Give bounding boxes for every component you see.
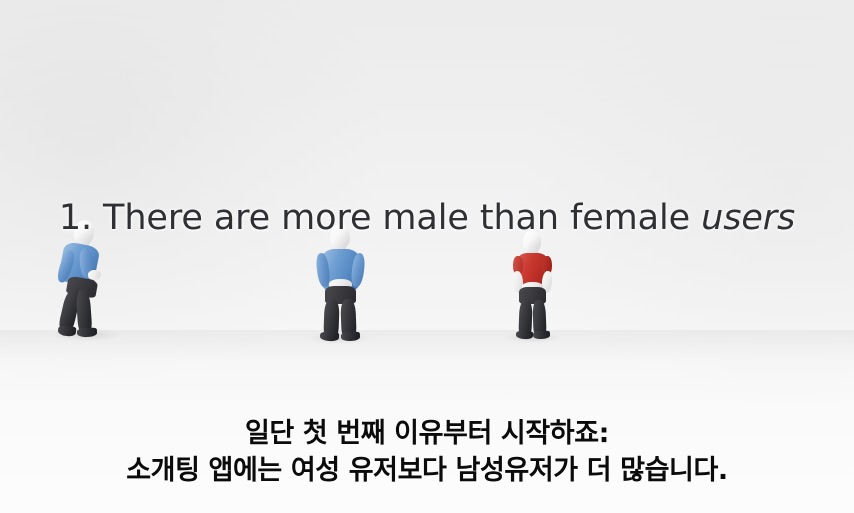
headline-number: 1. — [59, 198, 92, 238]
figure-arm-back — [55, 249, 77, 284]
figure-shoe-right — [341, 332, 360, 342]
figure-arm-right — [350, 252, 366, 287]
figure-leg-right — [340, 299, 356, 339]
figure-leg-left — [518, 300, 532, 338]
figure-hand-front — [88, 270, 102, 281]
figure-hip — [66, 276, 99, 299]
figure-torso — [517, 253, 548, 291]
figure-leg-right — [532, 300, 546, 338]
floor-horizon — [0, 330, 854, 400]
figure-shoe-right — [533, 331, 550, 340]
figure-shoe-left — [516, 331, 533, 340]
figure-arm-front — [78, 247, 94, 279]
figure-shoe-left — [320, 332, 339, 342]
figure-leg-left — [323, 299, 339, 339]
backdrop-vignette-left — [0, 0, 380, 390]
figure-center-male-standing — [305, 224, 375, 342]
subtitle-line-1: 일단 첫 번째 이유부터 시작하죠: — [0, 415, 854, 452]
figure-arm-bare-left — [512, 271, 524, 294]
subtitle-overlay: 일단 첫 번째 이유부터 시작하죠: 소개팅 앱에는 여성 유저보다 남성유저가… — [0, 415, 854, 489]
figure-neck — [334, 244, 346, 253]
figure-right-female-standing — [502, 230, 564, 342]
video-frame: 1. There are more male than female users… — [0, 0, 854, 513]
figure-hands — [329, 279, 352, 290]
subtitle-line-2: 소개팅 앱에는 여성 유저보다 남성유저가 더 많습니다. — [0, 452, 854, 489]
figure-shadow — [54, 328, 120, 341]
figure-shoe-back — [58, 325, 77, 337]
figure-arm-left — [315, 252, 331, 287]
figure-torso — [58, 241, 101, 287]
figure-neck — [527, 248, 538, 257]
figure-shoe-front — [77, 327, 97, 337]
figure-leg-front — [75, 290, 92, 335]
figure-hip — [325, 286, 356, 304]
headline-emphasis: users — [701, 198, 795, 238]
headline-overlay: 1. There are more male than female users — [0, 196, 854, 240]
figure-shadow — [311, 332, 369, 344]
figure-sleeve-left — [513, 256, 523, 275]
figure-sleeve-right — [542, 256, 552, 275]
figure-leg-back — [57, 289, 81, 333]
figure-neck — [77, 239, 89, 250]
scene-stage: 1. There are more male than female users… — [0, 0, 854, 513]
figure-arm-bare-right — [541, 271, 553, 294]
figure-hands — [522, 282, 543, 292]
figure-torso — [322, 249, 359, 291]
headline-text: There are more male than female — [92, 198, 701, 238]
figure-shadow — [507, 332, 559, 343]
figure-hip — [519, 287, 546, 304]
